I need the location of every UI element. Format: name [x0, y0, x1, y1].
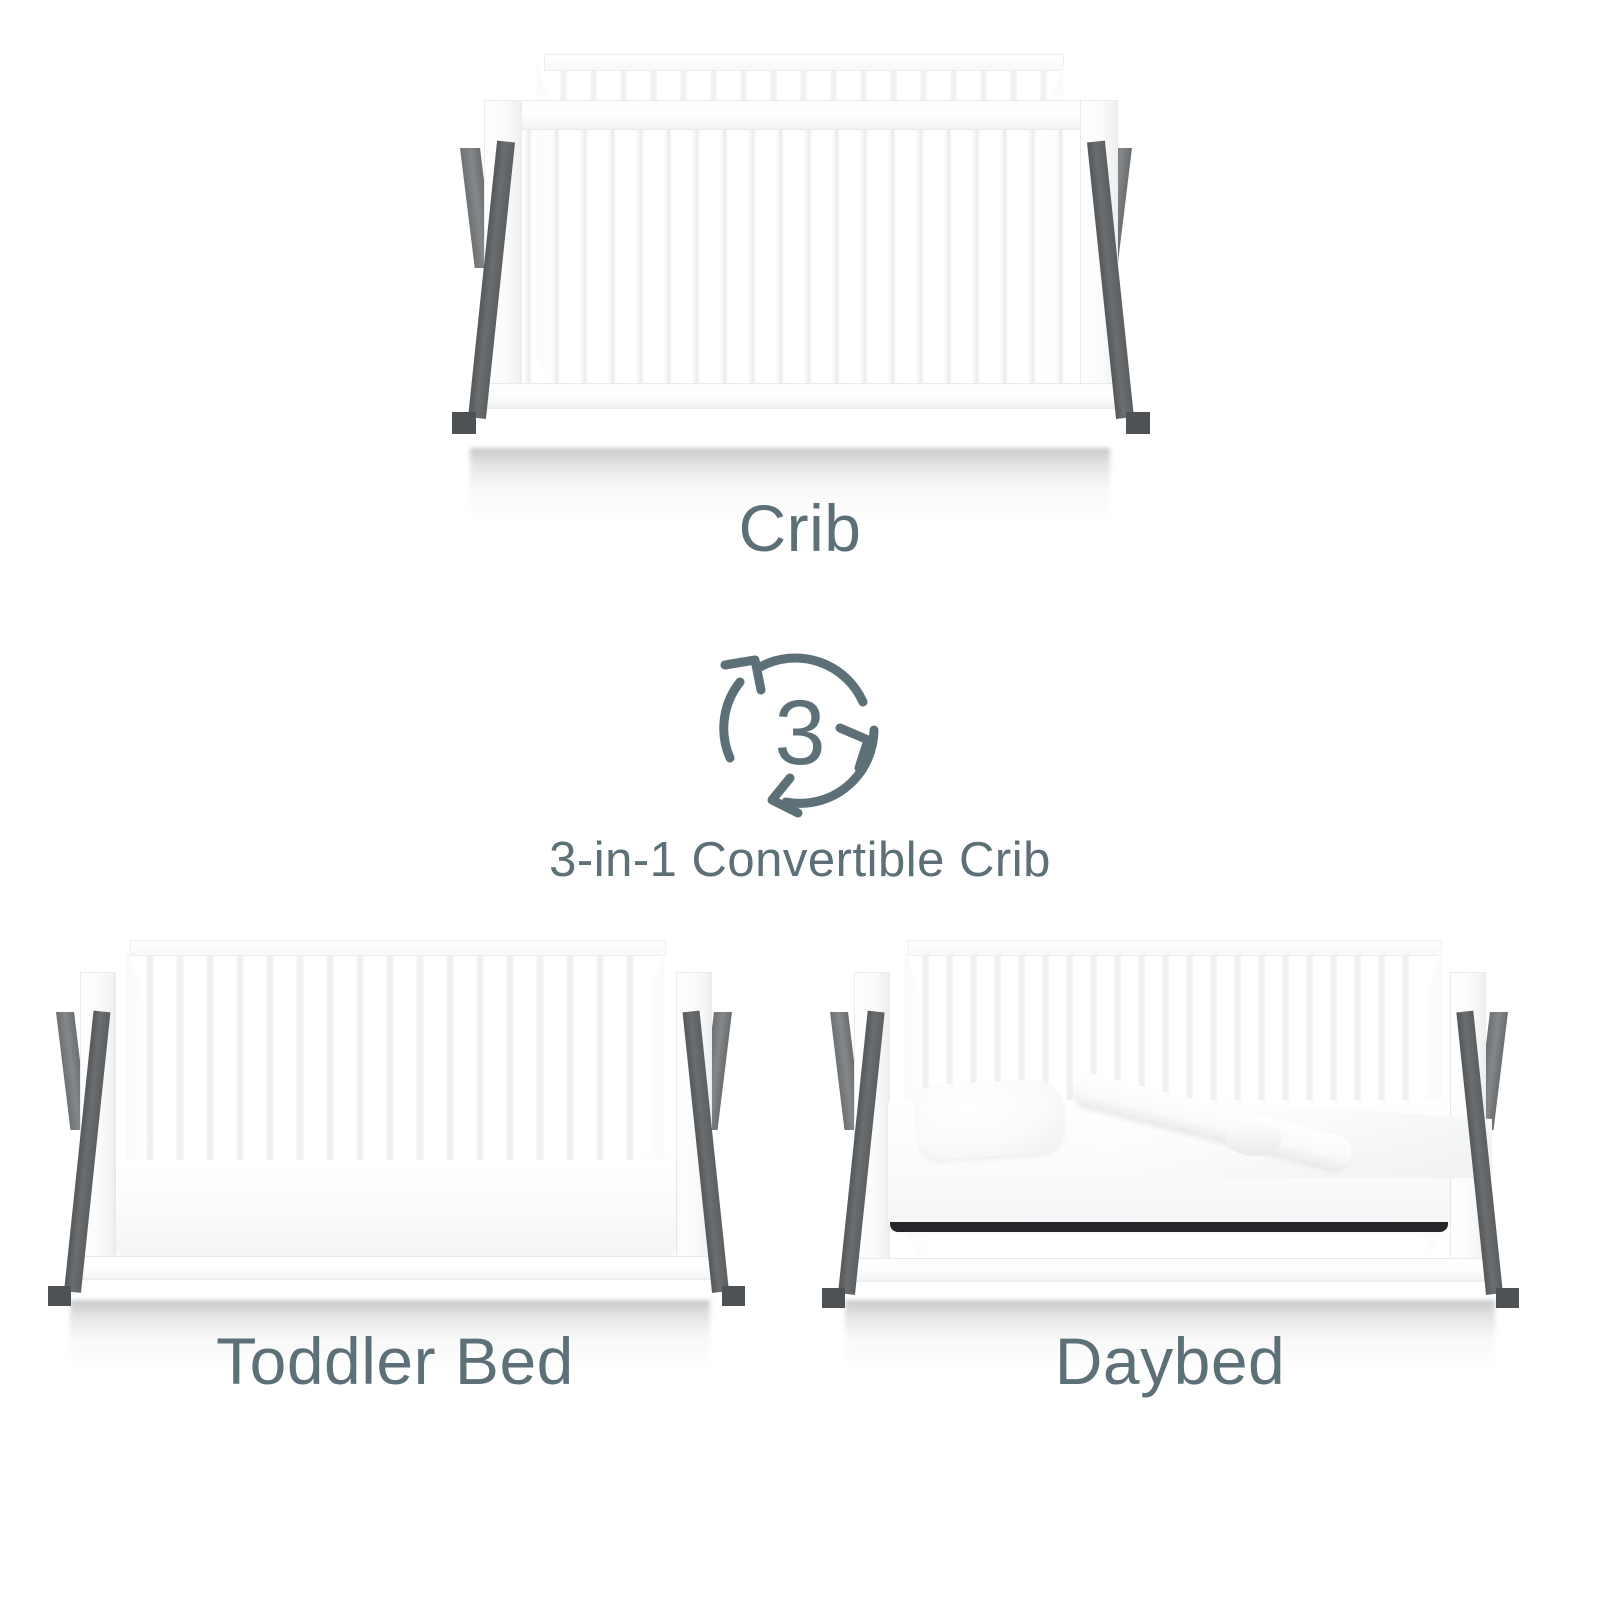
cycle-number: 3	[700, 687, 900, 779]
daybed-foot-left	[822, 1288, 845, 1308]
crib-front-top-rail	[484, 100, 1118, 130]
daybed-pillow	[916, 1078, 1066, 1160]
crib-front-slat-band	[522, 130, 1080, 383]
infographic-stage: Crib 3	[0, 0, 1600, 1600]
config-panel-crib: Crib	[440, 40, 1160, 520]
daybed-back-top-rail	[908, 940, 1442, 956]
toddler-bed-back-top-rail	[130, 940, 666, 956]
daybed-foot-right	[1496, 1288, 1519, 1308]
caption-convertible: 3-in-1 Convertible Crib	[549, 836, 1051, 885]
toddler-bed-mattress	[116, 1160, 676, 1256]
daybed-illustration	[790, 900, 1550, 1370]
toddler-bed-slat-band	[140, 956, 656, 1166]
daybed-mattress-support-rail	[890, 1222, 1448, 1232]
caption-toddler-bed: Toddler Bed	[30, 1328, 760, 1394]
caption-crib: Crib	[440, 495, 1160, 561]
crib-illustration	[440, 40, 1160, 520]
crib-front-bottom-rail	[484, 383, 1118, 409]
toddler-bed-front-bottom-rail	[80, 1256, 712, 1280]
config-panel-daybed: Daybed	[790, 900, 1550, 1370]
crib-foot-right	[1126, 412, 1150, 434]
convertible-badge: 3 3-in-1 Convertible Crib	[0, 630, 1600, 879]
crib-back-top-rail	[544, 54, 1064, 71]
toddler-bed-illustration	[30, 900, 760, 1370]
daybed-front-bottom-rail	[854, 1258, 1486, 1282]
toddler-bed-foot-left	[48, 1286, 71, 1306]
cycle-icon-container: 3	[700, 630, 900, 830]
caption-daybed: Daybed	[790, 1328, 1550, 1394]
toddler-bed-foot-right	[722, 1286, 745, 1306]
config-panel-toddler-bed: Toddler Bed	[30, 900, 760, 1370]
daybed-blanket-fold	[1226, 1122, 1282, 1156]
crib-foot-left	[452, 412, 476, 434]
